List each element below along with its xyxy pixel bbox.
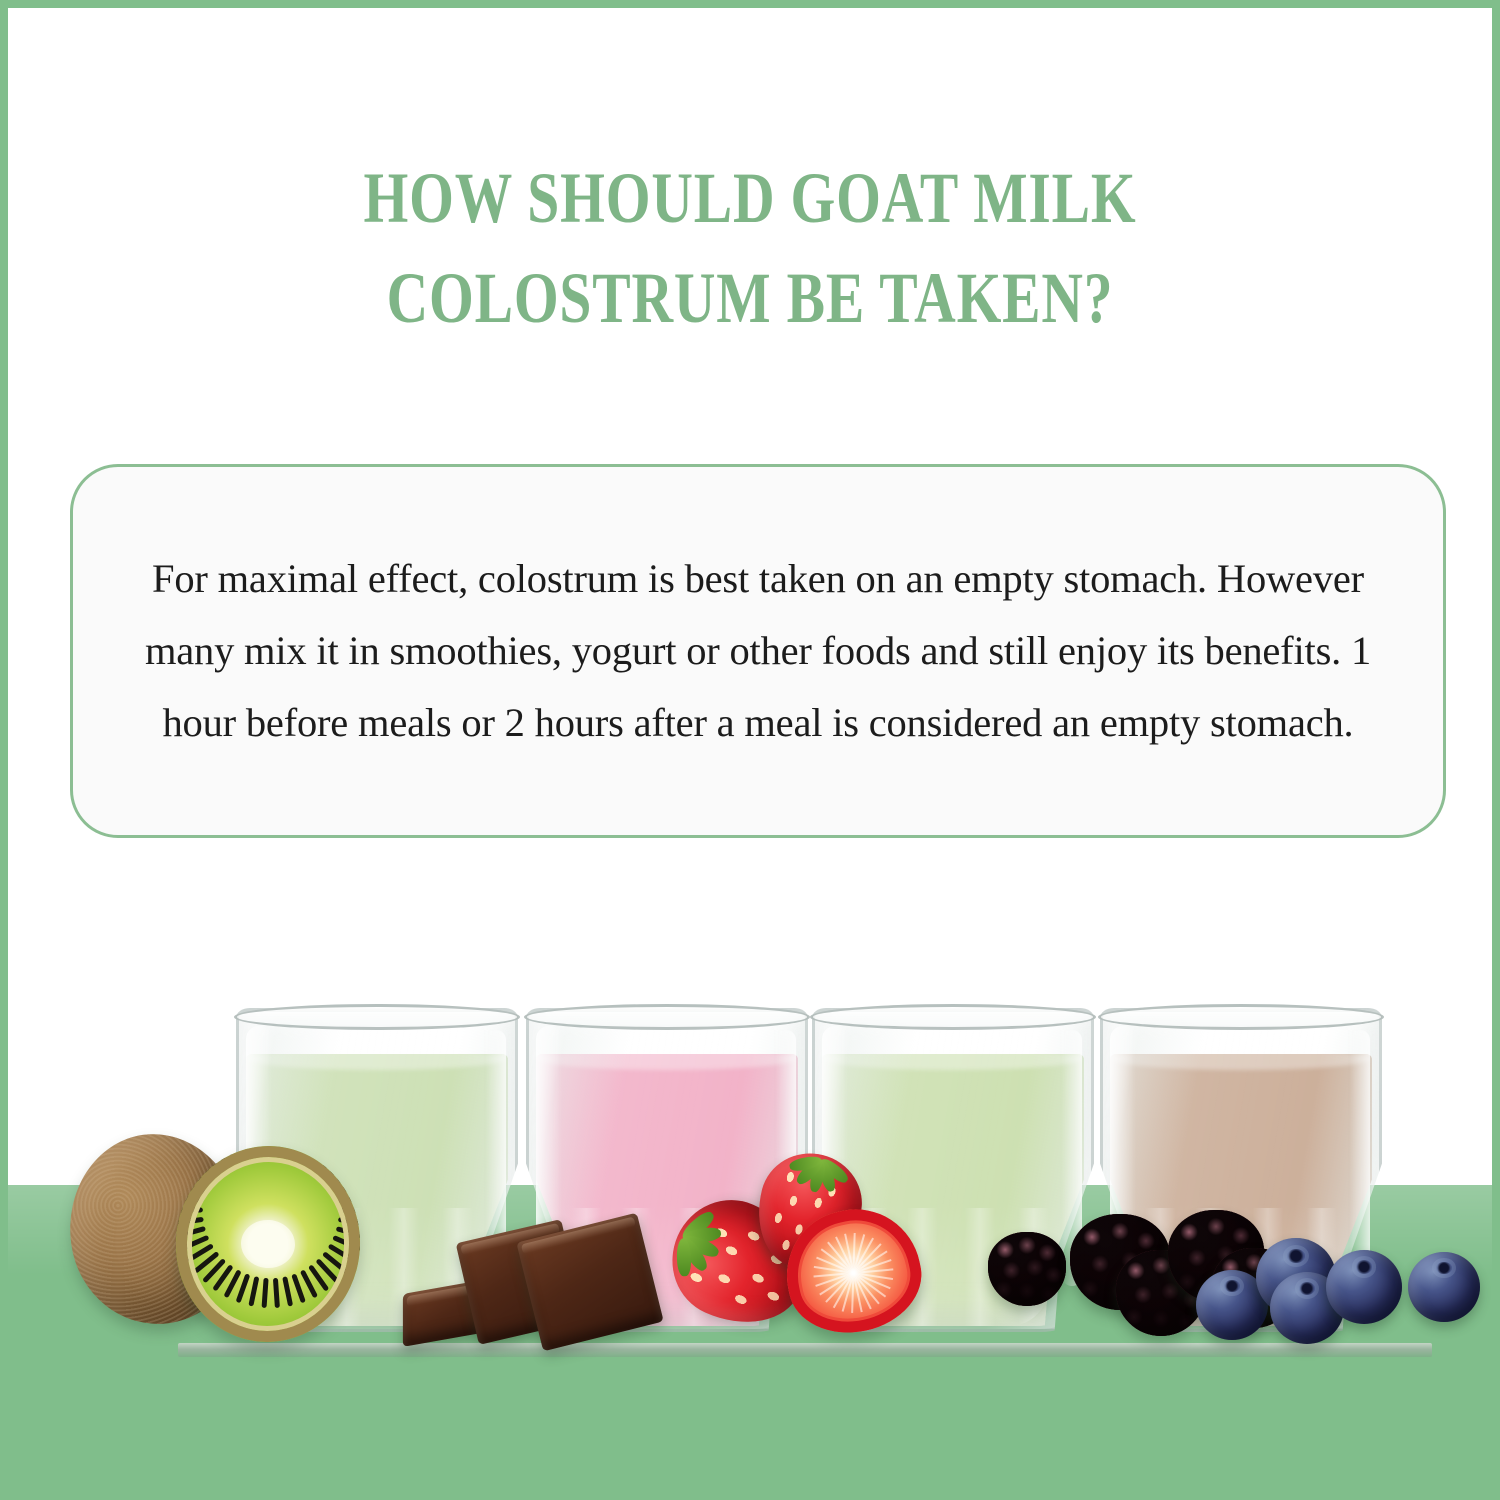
glass-2-rim [524,1004,810,1030]
raspberry-drupelets [988,1232,1066,1306]
smoothie-photo-scene [8,916,1492,1492]
raspberry [988,1232,1066,1306]
info-card: For maximal effect, colostrum is best ta… [70,464,1446,838]
blueberry [1326,1250,1402,1324]
glass-4-rim [1098,1004,1384,1030]
blueberry [1408,1252,1480,1322]
glass-4-highlight-right [1350,1030,1370,1286]
title-line-2: COLOSTRUM BE TAKEN? [300,248,1199,348]
glass-1-rim [234,1004,520,1030]
info-card-body: For maximal effect, colostrum is best ta… [133,543,1383,759]
page-title: HOW SHOULD GOAT MILK COLOSTRUM BE TAKEN? [8,148,1492,348]
table-edge-line [178,1343,1432,1357]
poster-frame: HOW SHOULD GOAT MILK COLOSTRUM BE TAKEN?… [0,0,1500,1500]
glass-3-rim [810,1004,1096,1030]
title-line-1: HOW SHOULD GOAT MILK [300,148,1199,248]
